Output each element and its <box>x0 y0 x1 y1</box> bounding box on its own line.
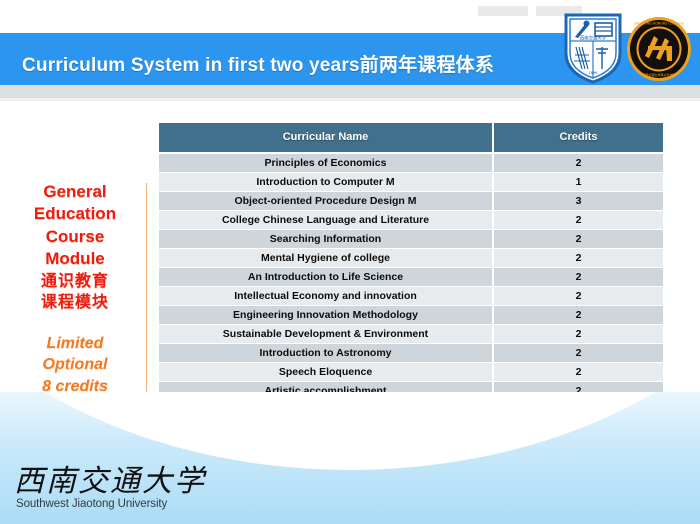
cell-curricular-name: Sustainable Development & Environment <box>159 325 493 344</box>
svg-text:西南交通大学茅以升学院: 西南交通大学茅以升学院 <box>642 72 676 77</box>
module-title-cn-line-1: 通识教育 <box>4 271 146 292</box>
svg-text:西南交通大学: 西南交通大学 <box>14 464 207 498</box>
table-row: Mental Hygiene of college2 <box>159 249 663 268</box>
table-row: Sustainable Development & Environment2 <box>159 325 663 344</box>
cell-credits: 2 <box>493 230 663 249</box>
module-title-red: General Education Course Module 通识教育 课程模… <box>4 181 146 313</box>
module-title-line-3: Course <box>4 226 146 248</box>
cell-credits: 3 <box>493 192 663 211</box>
table-row: Speech Eloquence2 <box>159 363 663 382</box>
table-row: Introduction to Computer M1 <box>159 173 663 192</box>
table-header-row: Curricular Name Credits <box>159 123 663 153</box>
cell-credits: 2 <box>493 344 663 363</box>
footer-university-name-en: Southwest Jiaotong University <box>16 498 167 510</box>
credit-note-line-2: Optional <box>4 354 146 375</box>
cell-credits: 2 <box>493 249 663 268</box>
column-header-credits: Credits <box>493 123 663 153</box>
cell-curricular-name: Intellectual Economy and innovation <box>159 287 493 306</box>
table-row: Object-oriented Procedure Design M3 <box>159 192 663 211</box>
course-table: Curricular Name Credits Principles of Ec… <box>159 123 663 420</box>
swjtu-calligraphy-icon: 西南交通大学 <box>14 462 214 498</box>
svg-text:西南交通大学: 西南交通大学 <box>580 35 607 42</box>
page-title: Curriculum System in first two years前两年课… <box>22 50 582 77</box>
cell-credits: 2 <box>493 268 663 287</box>
course-table-body: Principles of Economics2Introduction to … <box>159 153 663 420</box>
svg-text:1896: 1896 <box>588 71 598 75</box>
course-table-container: Curricular Name Credits Principles of Ec… <box>158 122 664 421</box>
module-title-line-1: General <box>4 181 146 203</box>
svg-text:JIAO TONG HONORS COLLEGE: JIAO TONG HONORS COLLEGE <box>633 22 683 26</box>
jiaotong-honors-college-badge-icon: JIAO TONG HONORS COLLEGE 西南交通大学茅以升学院 <box>626 16 692 82</box>
table-row: Intellectual Economy and innovation2 <box>159 287 663 306</box>
table-row: Introduction to Astronomy2 <box>159 344 663 363</box>
table-row: An Introduction to Life Science2 <box>159 268 663 287</box>
cell-curricular-name: Mental Hygiene of college <box>159 249 493 268</box>
bottom-white-curve <box>0 392 700 470</box>
cell-curricular-name: Object-oriented Procedure Design M <box>159 192 493 211</box>
cell-curricular-name: Engineering Innovation Methodology <box>159 306 493 325</box>
top-artifact-strip-1 <box>478 6 528 16</box>
module-title-cn-line-2: 课程模块 <box>4 292 146 313</box>
cell-curricular-name: Introduction to Computer M <box>159 173 493 192</box>
cell-credits: 2 <box>493 306 663 325</box>
slide-canvas: Curriculum System in first two years前两年课… <box>0 0 700 524</box>
cell-curricular-name: Searching Information <box>159 230 493 249</box>
cell-credits: 1 <box>493 173 663 192</box>
column-header-curricular-name: Curricular Name <box>159 123 493 153</box>
credit-note-line-1: Limited <box>4 333 146 354</box>
logo-group: 西南交通大学 1896 JIAO TONG HONORS COLLEGE 西南交… <box>562 8 694 88</box>
cell-credits: 2 <box>493 153 663 173</box>
module-title-line-2: Education <box>4 203 146 225</box>
cell-curricular-name: College Chinese Language and Literature <box>159 211 493 230</box>
course-table-head: Curricular Name Credits <box>159 123 663 153</box>
cell-credits: 2 <box>493 211 663 230</box>
swjtu-crest-icon: 西南交通大学 1896 <box>562 11 624 85</box>
left-caption-block: General Education Course Module 通识教育 课程模… <box>4 181 146 419</box>
cell-credits: 2 <box>493 363 663 382</box>
module-title-line-4: Module <box>4 248 146 270</box>
footer-logo: 西南交通大学 Southwest Jiaotong University <box>8 462 218 518</box>
cell-curricular-name: Principles of Economics <box>159 153 493 173</box>
table-row: College Chinese Language and Literature2 <box>159 211 663 230</box>
cell-curricular-name: Speech Eloquence <box>159 363 493 382</box>
cell-credits: 2 <box>493 325 663 344</box>
cell-curricular-name: Introduction to Astronomy <box>159 344 493 363</box>
left-panel-divider <box>146 183 147 401</box>
cell-curricular-name: An Introduction to Life Science <box>159 268 493 287</box>
table-row: Principles of Economics2 <box>159 153 663 173</box>
cell-credits: 2 <box>493 287 663 306</box>
table-row: Searching Information2 <box>159 230 663 249</box>
table-row: Engineering Innovation Methodology2 <box>159 306 663 325</box>
